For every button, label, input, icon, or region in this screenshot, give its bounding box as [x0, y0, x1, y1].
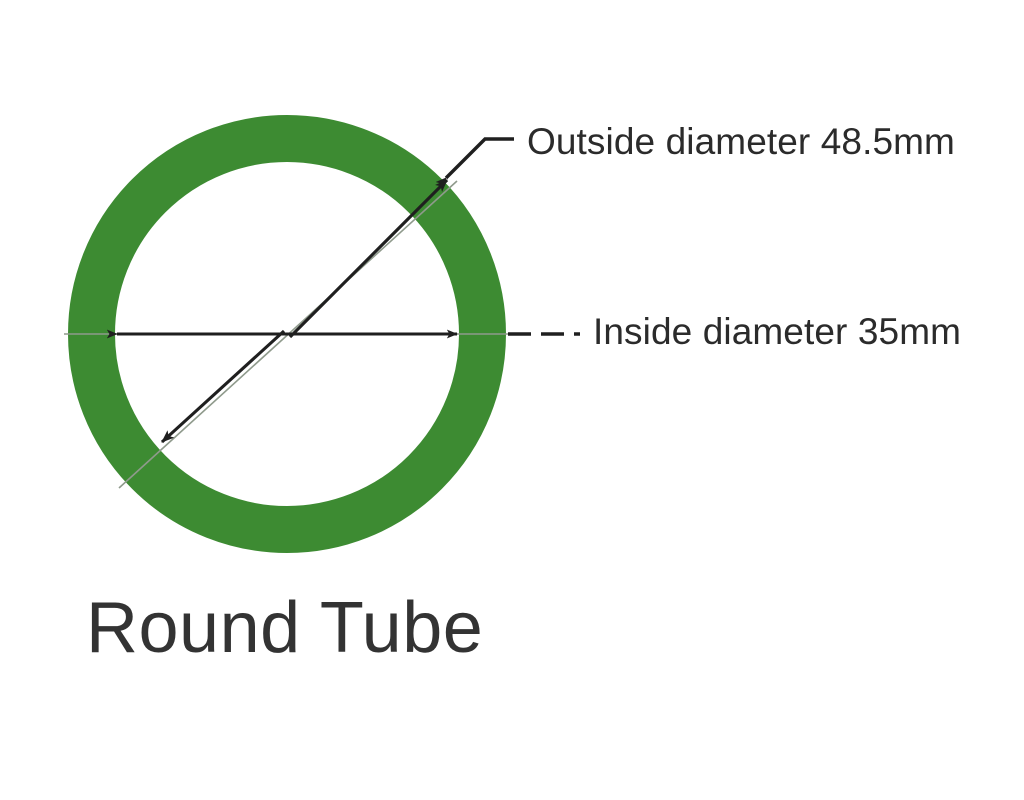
round-tube-diagram: Outside diameter 48.5mm Inside diameter … [0, 0, 1024, 800]
outside-diameter-arrow-upper [290, 180, 447, 337]
outside-diameter-label: Outside diameter 48.5mm [527, 123, 955, 160]
outside-diameter-arrow-lower [162, 331, 284, 442]
inside-diameter-label: Inside diameter 35mm [593, 313, 961, 350]
diagram-canvas [0, 0, 1024, 800]
outside-diameter-leader-line [446, 139, 514, 178]
shape-title: Round Tube [86, 592, 483, 664]
